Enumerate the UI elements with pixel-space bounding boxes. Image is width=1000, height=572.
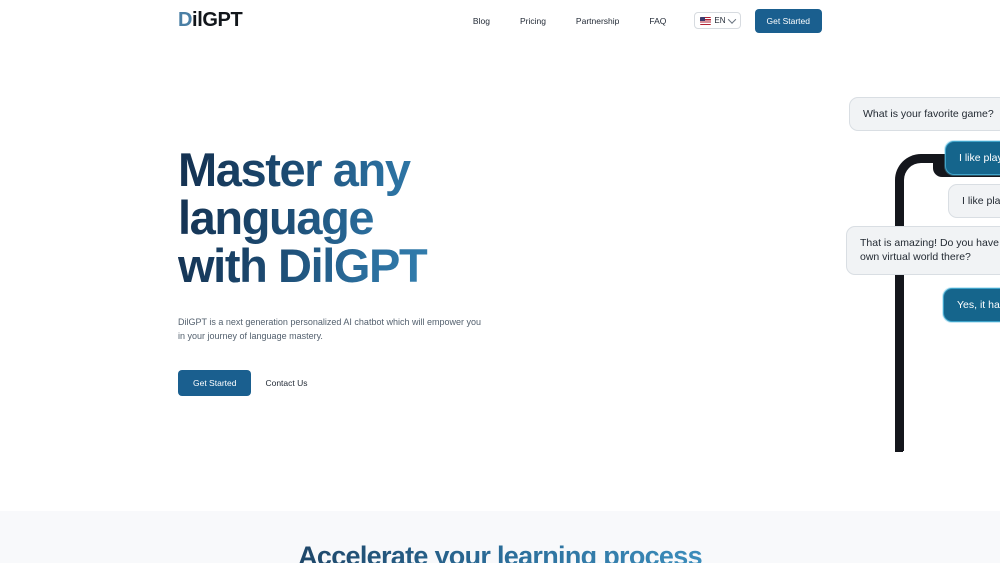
hero-cta-group: Get Started Contact Us	[178, 370, 508, 396]
chat-bubble-correction: I like playing Roblox the most	[948, 184, 1000, 218]
logo-letter-d: D	[178, 9, 192, 32]
top-navbar: DilGPT Blog Pricing Partnership FAQ EN G…	[0, 0, 1000, 41]
chat-conversation: What is your favorite game? I like play …	[508, 41, 1000, 511]
brand-logo[interactable]: DilGPT	[178, 9, 242, 32]
nav-link-partnership[interactable]: Partnership	[576, 16, 619, 26]
nav-right-group: Blog Pricing Partnership FAQ EN Get Star…	[473, 9, 822, 33]
chevron-down-icon	[727, 15, 735, 23]
chat-bubble-bot: What is your favorite game?	[849, 97, 1000, 131]
hero-subtitle: DilGPT is a next generation personalized…	[178, 316, 490, 344]
hero-section: Master any language with DilGPT DilGPT i…	[0, 41, 1000, 511]
section-heading: Accelerate your learning process	[298, 541, 702, 563]
language-code: EN	[714, 16, 725, 25]
chat-bubble-user: Yes, it has a racing game in it	[943, 288, 1000, 322]
correction-seg-0: I like play	[962, 195, 1000, 207]
hero-illustration: What is your favorite game? I like play …	[508, 41, 1000, 511]
nav-link-blog[interactable]: Blog	[473, 16, 490, 26]
hero-title-line-3: with DilGPT	[178, 239, 426, 292]
nav-get-started-button[interactable]: Get Started	[755, 9, 822, 33]
nav-link-faq[interactable]: FAQ	[649, 16, 666, 26]
us-flag-icon	[700, 17, 711, 25]
chat-bubble-bot: That is amazing! Do you have your own vi…	[846, 226, 1000, 275]
hero-get-started-button[interactable]: Get Started	[178, 370, 251, 396]
page-title: Master any language with DilGPT	[178, 146, 508, 290]
hero-title-line-2: language	[178, 191, 373, 244]
contact-us-link[interactable]: Contact Us	[265, 378, 307, 388]
logo-text: ilGPT	[192, 9, 242, 32]
language-selector[interactable]: EN	[694, 12, 740, 29]
nav-links: Blog Pricing Partnership FAQ	[473, 16, 666, 26]
accelerate-section: Accelerate your learning process	[0, 511, 1000, 563]
chat-bubble-user: I like play Roblox most	[945, 141, 1000, 175]
nav-link-pricing[interactable]: Pricing	[520, 16, 546, 26]
hero-title-line-1: Master any	[178, 143, 410, 196]
hero-copy: Master any language with DilGPT DilGPT i…	[178, 41, 508, 511]
